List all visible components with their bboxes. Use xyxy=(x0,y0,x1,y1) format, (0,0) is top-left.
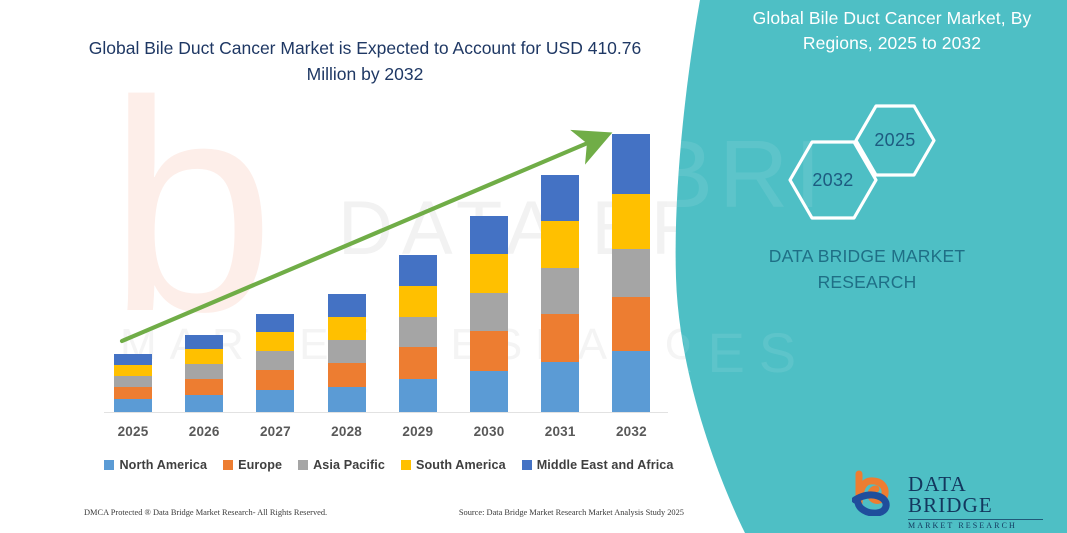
bar-segment xyxy=(114,354,152,365)
chart-legend: North AmericaEuropeAsia PacificSouth Ame… xyxy=(104,455,674,475)
bar-segment xyxy=(541,268,579,314)
bar-segment xyxy=(470,371,508,412)
legend-swatch-icon xyxy=(522,460,532,470)
logo-main-text: DATA BRIDGE xyxy=(908,474,1043,516)
x-axis-label-2027: 2027 xyxy=(240,424,310,439)
legend-label: Middle East and Africa xyxy=(537,458,674,472)
bar-segment xyxy=(328,317,366,340)
bar-segment xyxy=(185,349,223,364)
legend-swatch-icon xyxy=(104,460,114,470)
bar-2027 xyxy=(256,314,294,412)
bar-segment xyxy=(541,314,579,362)
x-axis-label-2026: 2026 xyxy=(169,424,239,439)
bar-segment xyxy=(470,293,508,331)
hexagon-start-year-label: 2025 xyxy=(853,103,937,178)
panel-watermark-bottom: RES xyxy=(667,320,810,385)
bar-2031 xyxy=(541,175,579,412)
x-axis-labels: 20252026202720282029203020312032 xyxy=(0,424,720,446)
bar-segment xyxy=(256,332,294,351)
bar-segment xyxy=(470,216,508,254)
legend-swatch-icon xyxy=(223,460,233,470)
x-axis-label-2025: 2025 xyxy=(98,424,168,439)
panel-brand-name: DATA BRIDGE MARKET RESEARCH xyxy=(722,243,1012,296)
legend-item[interactable]: Middle East and Africa xyxy=(522,458,674,472)
data-bridge-logo-icon xyxy=(852,470,904,516)
bar-2028 xyxy=(328,294,366,412)
bar-segment xyxy=(399,317,437,347)
legend-item[interactable]: Europe xyxy=(223,458,282,472)
chart-baseline xyxy=(104,412,668,413)
bar-2025 xyxy=(114,354,152,412)
bar-segment xyxy=(114,387,152,399)
bar-segment xyxy=(541,221,579,268)
bar-segment xyxy=(612,351,650,412)
x-axis-label-2032: 2032 xyxy=(596,424,666,439)
bar-segment xyxy=(185,335,223,349)
panel-title: Global Bile Duct Cancer Market, By Regio… xyxy=(727,6,1057,56)
bar-segment xyxy=(328,294,366,317)
bar-segment xyxy=(612,249,650,297)
legend-swatch-icon xyxy=(401,460,411,470)
footer-copyright: DMCA Protected ® Data Bridge Market Rese… xyxy=(84,508,327,524)
bar-segment xyxy=(399,255,437,286)
bar-segment xyxy=(185,395,223,412)
x-axis-label-2029: 2029 xyxy=(383,424,453,439)
bar-2032 xyxy=(612,134,650,412)
x-axis-label-2031: 2031 xyxy=(525,424,595,439)
logo-divider xyxy=(908,519,1043,520)
bar-segment xyxy=(256,351,294,370)
legend-label: Europe xyxy=(238,458,282,472)
bar-2030 xyxy=(470,216,508,412)
bar-segment xyxy=(114,365,152,376)
bar-segment xyxy=(328,340,366,363)
legend-item[interactable]: Asia Pacific xyxy=(298,458,385,472)
legend-label: South America xyxy=(416,458,506,472)
bar-2026 xyxy=(185,335,223,412)
bar-segment xyxy=(399,347,437,379)
hexagon-badge-start-year: 2025 xyxy=(853,103,937,178)
stacked-bar-chart xyxy=(0,0,720,533)
bar-segment xyxy=(612,194,650,249)
bar-segment xyxy=(114,399,152,412)
bar-segment xyxy=(541,175,579,221)
bar-segment xyxy=(399,379,437,412)
legend-swatch-icon xyxy=(298,460,308,470)
bar-segment xyxy=(114,376,152,387)
company-logo: DATA BRIDGE MARKET RESEARCH xyxy=(852,470,1042,522)
bar-2029 xyxy=(399,255,437,412)
bar-segment xyxy=(612,134,650,194)
bar-segment xyxy=(470,331,508,371)
bar-segment xyxy=(541,362,579,412)
logo-sub-text: MARKET RESEARCH xyxy=(908,522,1043,530)
footer: DMCA Protected ® Data Bridge Market Rese… xyxy=(84,508,684,524)
bar-segment xyxy=(256,390,294,412)
bar-segment xyxy=(256,370,294,390)
legend-label: Asia Pacific xyxy=(313,458,385,472)
bar-segment xyxy=(256,314,294,332)
x-axis-label-2030: 2030 xyxy=(454,424,524,439)
legend-item[interactable]: North America xyxy=(104,458,207,472)
bar-segment xyxy=(470,254,508,293)
x-axis-label-2028: 2028 xyxy=(312,424,382,439)
legend-label: North America xyxy=(119,458,207,472)
bar-segment xyxy=(185,379,223,395)
bar-segment xyxy=(328,387,366,412)
chart-panel: b DATA BRIDGE MARKET RESEARCH Global Bil… xyxy=(0,0,720,533)
bar-segment xyxy=(185,364,223,379)
bar-segment xyxy=(399,286,437,317)
bar-segment xyxy=(612,297,650,351)
bar-segment xyxy=(328,363,366,387)
footer-source: Source: Data Bridge Market Research Mark… xyxy=(459,508,684,524)
brand-panel: BRI RES Global Bile Duct Cancer Market, … xyxy=(667,0,1067,533)
legend-item[interactable]: South America xyxy=(401,458,506,472)
